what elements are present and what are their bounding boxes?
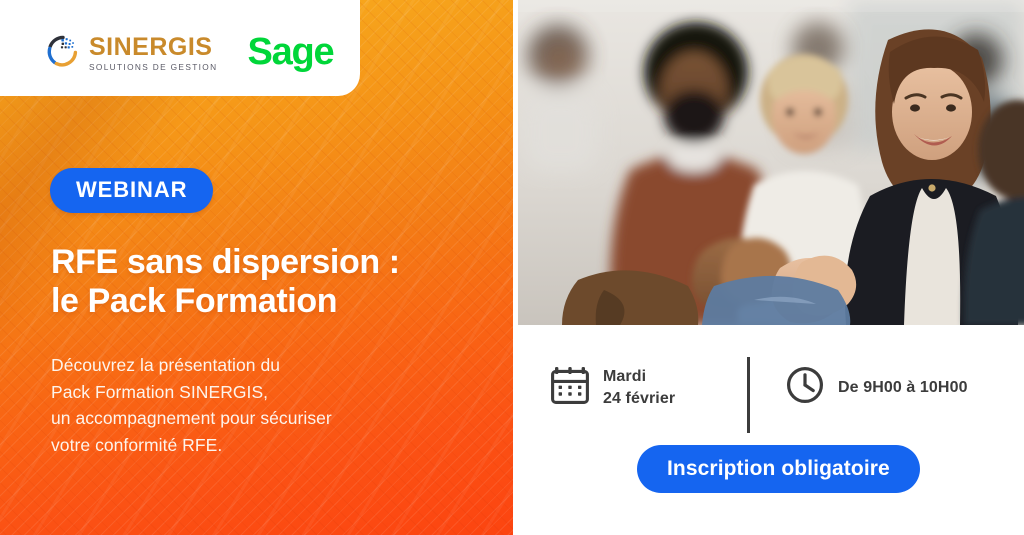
clock-icon (785, 365, 825, 410)
event-date-value: 24 février (603, 388, 675, 410)
event-time-text: De 9H00 à 10H00 (838, 377, 968, 399)
description-line-1: Découvrez la présentation du (51, 352, 491, 379)
description-line-4: votre conformité RFE. (51, 432, 491, 459)
calendar-icon (550, 365, 590, 410)
description-line-3: un accompagnement pour sécuriser (51, 405, 491, 432)
registration-cta-label: Inscription obligatoire (667, 458, 890, 479)
sinergis-tagline: SOLUTIONS DE GESTION (89, 63, 217, 71)
sinergis-circle-mark-icon (44, 32, 82, 75)
sinergis-logo: SINERGIS SOLUTIONS DE GESTION (44, 32, 217, 75)
event-info-bar: Mardi 24 février De 9H00 à 10H00 (513, 325, 1024, 535)
logo-row: SINERGIS SOLUTIONS DE GESTION Sage (44, 32, 333, 75)
event-time-value: De 9H00 à 10H00 (838, 377, 968, 399)
sinergis-name: SINERGIS (89, 35, 217, 60)
right-column: Mardi 24 février De 9H00 à 10H00 (513, 0, 1024, 535)
audience-photo (518, 0, 1024, 325)
info-divider (747, 357, 750, 433)
event-time-block: De 9H00 à 10H00 (785, 365, 968, 410)
webinar-banner: SINERGIS SOLUTIONS DE GESTION Sage WEBIN… (0, 0, 1024, 535)
registration-cta-button[interactable]: Inscription obligatoire (637, 445, 920, 493)
headline-line-2: le Pack Formation (51, 282, 491, 321)
headline: RFE sans dispersion : le Pack Formation (51, 243, 491, 322)
webinar-badge-label: WEBINAR (76, 179, 187, 201)
description-text: Découvrez la présentation du Pack Format… (51, 352, 491, 458)
webinar-badge: WEBINAR (50, 168, 213, 213)
event-date-text: Mardi 24 février (603, 366, 675, 409)
logo-header-plate: SINERGIS SOLUTIONS DE GESTION Sage (0, 0, 360, 96)
event-date-day: Mardi (603, 366, 675, 388)
headline-line-1: RFE sans dispersion : (51, 243, 491, 282)
sinergis-wordmark: SINERGIS SOLUTIONS DE GESTION (89, 35, 217, 71)
description-line-2: Pack Formation SINERGIS, (51, 379, 491, 406)
event-date-block: Mardi 24 février (550, 365, 675, 410)
sage-logo: Sage (247, 33, 333, 71)
